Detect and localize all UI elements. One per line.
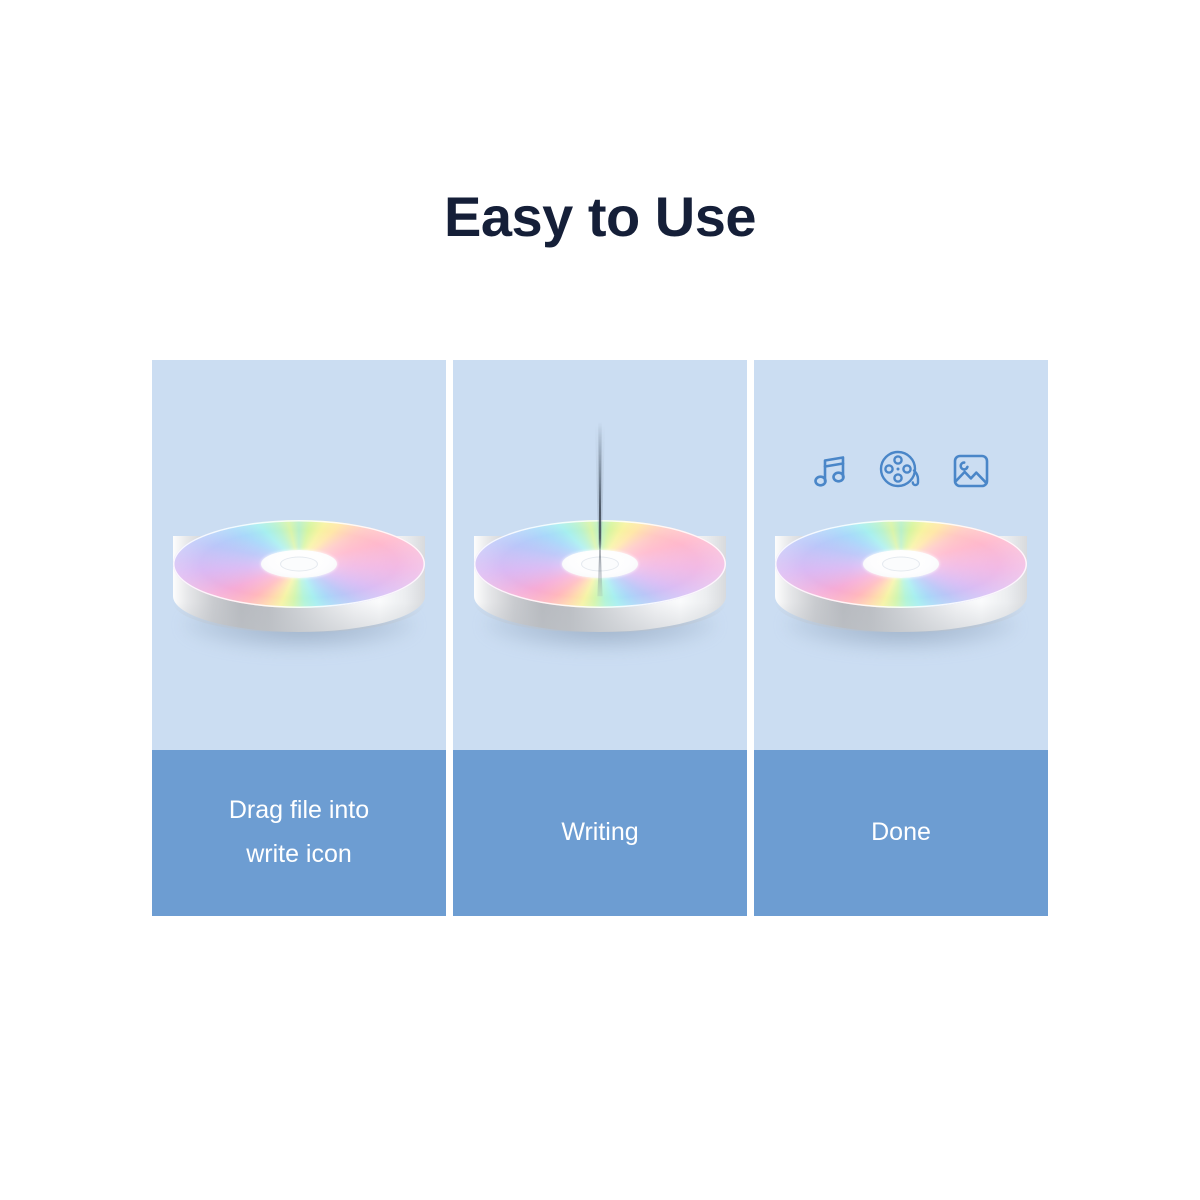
- film-reel-icon: [878, 448, 924, 494]
- disc-hub: [863, 550, 939, 578]
- page-title: Easy to Use: [0, 186, 1200, 248]
- cd-disc-1: [173, 520, 425, 660]
- step-panel-3: Done: [754, 360, 1048, 916]
- step-2-stage: [453, 360, 747, 750]
- step-3-stage: [754, 360, 1048, 750]
- step-3-caption-line1: Done: [871, 818, 931, 846]
- disc-hub-ring: [882, 557, 920, 572]
- cd-disc-3: [775, 520, 1027, 660]
- step-2-caption: Writing: [453, 750, 747, 916]
- step-2-caption-line1: Writing: [561, 818, 638, 846]
- steps-row: Drag file into write icon W: [152, 360, 1048, 916]
- media-icons-group: [754, 448, 1048, 494]
- step-panel-1: Drag file into write icon: [152, 360, 446, 916]
- step-1-stage: [152, 360, 446, 750]
- disc-hub-ring: [581, 557, 619, 572]
- disc-hub: [562, 550, 638, 578]
- music-note-icon: [810, 450, 852, 492]
- cd-disc-2: [474, 520, 726, 660]
- image-icon: [950, 450, 992, 492]
- step-panel-2: Writing: [453, 360, 747, 916]
- step-1-caption-line1: Drag file into: [229, 796, 369, 824]
- disc-hub: [261, 550, 337, 578]
- step-1-caption-line2: write icon: [246, 840, 352, 868]
- step-3-caption: Done: [754, 750, 1048, 916]
- disc-hub-ring: [280, 557, 318, 572]
- step-1-caption: Drag file into write icon: [152, 750, 446, 916]
